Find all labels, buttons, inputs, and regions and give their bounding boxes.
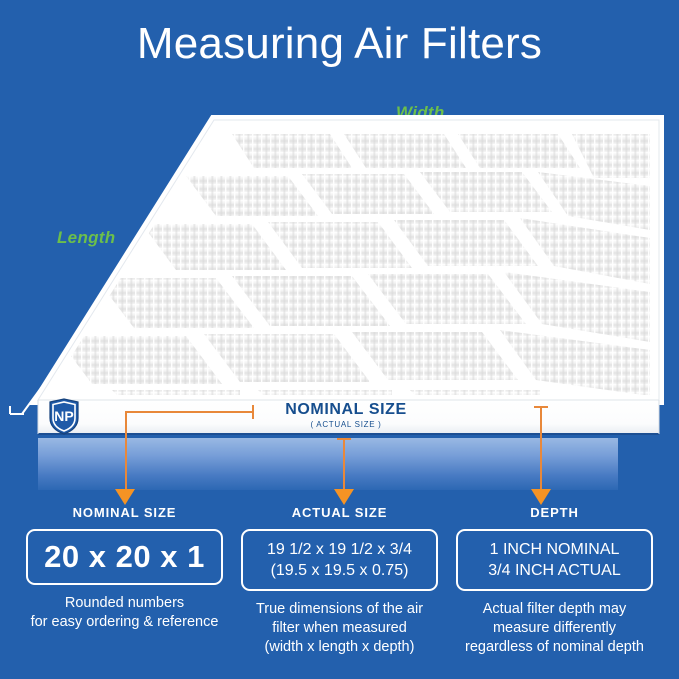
leader-nominal-horizontal (126, 411, 254, 413)
frame-nominal-sub: ( ACTUAL SIZE ) (256, 419, 436, 431)
column-value-line: 20 x 20 x 1 (44, 539, 205, 575)
caption-line: True dimensions of the air (233, 600, 446, 619)
column-value-box: 19 1/2 x 19 1/2 x 3/4 (19.5 x 19.5 x 0.7… (241, 529, 438, 591)
caption-line: Actual filter depth may (448, 600, 661, 619)
column-heading: NOMINAL SIZE (18, 505, 231, 521)
air-filter-illustration (0, 112, 679, 442)
column-value-line: (19.5 x 19.5 x 0.75) (271, 560, 409, 581)
column-value-box: 20 x 20 x 1 (26, 529, 223, 585)
info-column-nominal-size: NOMINAL SIZE 20 x 20 x 1 Rounded numbers… (18, 505, 231, 632)
column-caption: Rounded numbers for easy ordering & refe… (18, 594, 231, 632)
leader-actual-arrow (334, 489, 354, 505)
column-value-line: 1 INCH NOMINAL (490, 539, 620, 560)
caption-line: regardless of nominal depth (448, 638, 661, 657)
leader-nominal-vertical (125, 411, 127, 493)
column-heading: DEPTH (448, 505, 661, 521)
column-value-line: 3/4 INCH ACTUAL (488, 560, 620, 581)
column-caption: True dimensions of the air filter when m… (233, 600, 446, 657)
leader-nominal-endtick (252, 405, 254, 419)
caption-line: filter when measured (233, 619, 446, 638)
np-shield-logo: NP (47, 398, 81, 436)
info-column-depth: DEPTH 1 INCH NOMINAL 3/4 INCH ACTUAL Act… (448, 505, 661, 657)
leader-depth-arrow (531, 489, 551, 505)
info-column-actual-size: ACTUAL SIZE 19 1/2 x 19 1/2 x 3/4 (19.5 … (233, 505, 446, 657)
logo-text: NP (54, 408, 73, 424)
caption-line: Rounded numbers (18, 594, 231, 613)
leader-depth-vertical (540, 406, 542, 493)
caption-line: for easy ordering & reference (18, 613, 231, 632)
caption-line: (width x length x depth) (233, 638, 446, 657)
frame-nominal-caption: NOMINAL SIZE ( ACTUAL SIZE ) (256, 400, 436, 431)
caption-line: measure differently (448, 619, 661, 638)
infographic-canvas: Measuring Air Filters Width Length Depth (0, 0, 679, 679)
column-value-box: 1 INCH NOMINAL 3/4 INCH ACTUAL (456, 529, 653, 591)
column-value-line: 19 1/2 x 19 1/2 x 3/4 (267, 539, 412, 560)
column-caption: Actual filter depth may measure differen… (448, 600, 661, 657)
page-title: Measuring Air Filters (0, 18, 679, 70)
leader-actual-vertical (343, 438, 345, 493)
column-heading: ACTUAL SIZE (233, 505, 446, 521)
frame-nominal-main: NOMINAL SIZE (256, 400, 436, 419)
leader-nominal-arrow (115, 489, 135, 505)
